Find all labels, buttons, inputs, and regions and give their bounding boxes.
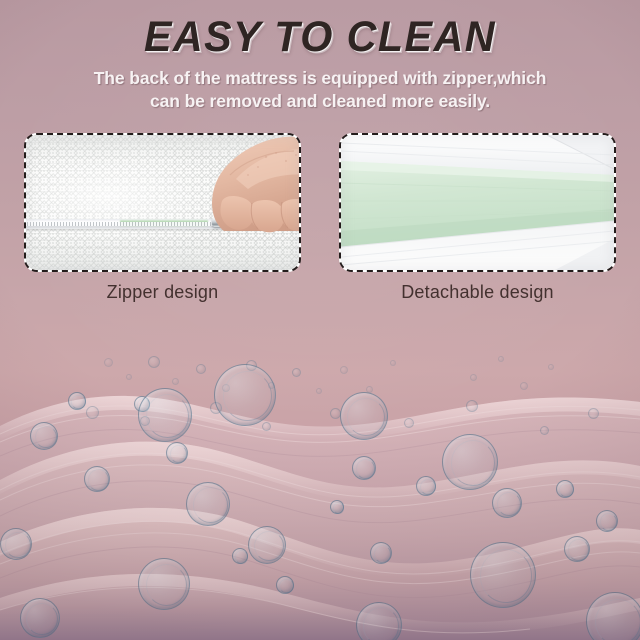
page-subtitle: The back of the mattress is equipped wit… bbox=[0, 67, 640, 113]
feature-panel-detachable: Detachable design bbox=[339, 133, 616, 303]
header: EASY TO CLEAN The back of the mattress i… bbox=[0, 0, 640, 113]
page-title: EASY TO CLEAN bbox=[13, 0, 627, 61]
panel-caption-zipper: Zipper design bbox=[24, 282, 301, 303]
subtitle-line-2: can be removed and cleaned more easily. bbox=[150, 91, 490, 111]
feature-panel-zipper: Zipper design bbox=[24, 133, 301, 303]
product-feature-image: EASY TO CLEAN The back of the mattress i… bbox=[0, 0, 640, 640]
foam-layers-illustration bbox=[341, 135, 614, 270]
subtitle-line-1: The back of the mattress is equipped wit… bbox=[94, 68, 547, 88]
hand-illustration bbox=[178, 133, 301, 243]
feature-panels: Zipper design bbox=[0, 133, 640, 303]
zipper-photo bbox=[24, 133, 301, 272]
detachable-photo bbox=[339, 133, 616, 272]
panel-caption-detachable: Detachable design bbox=[339, 282, 616, 303]
